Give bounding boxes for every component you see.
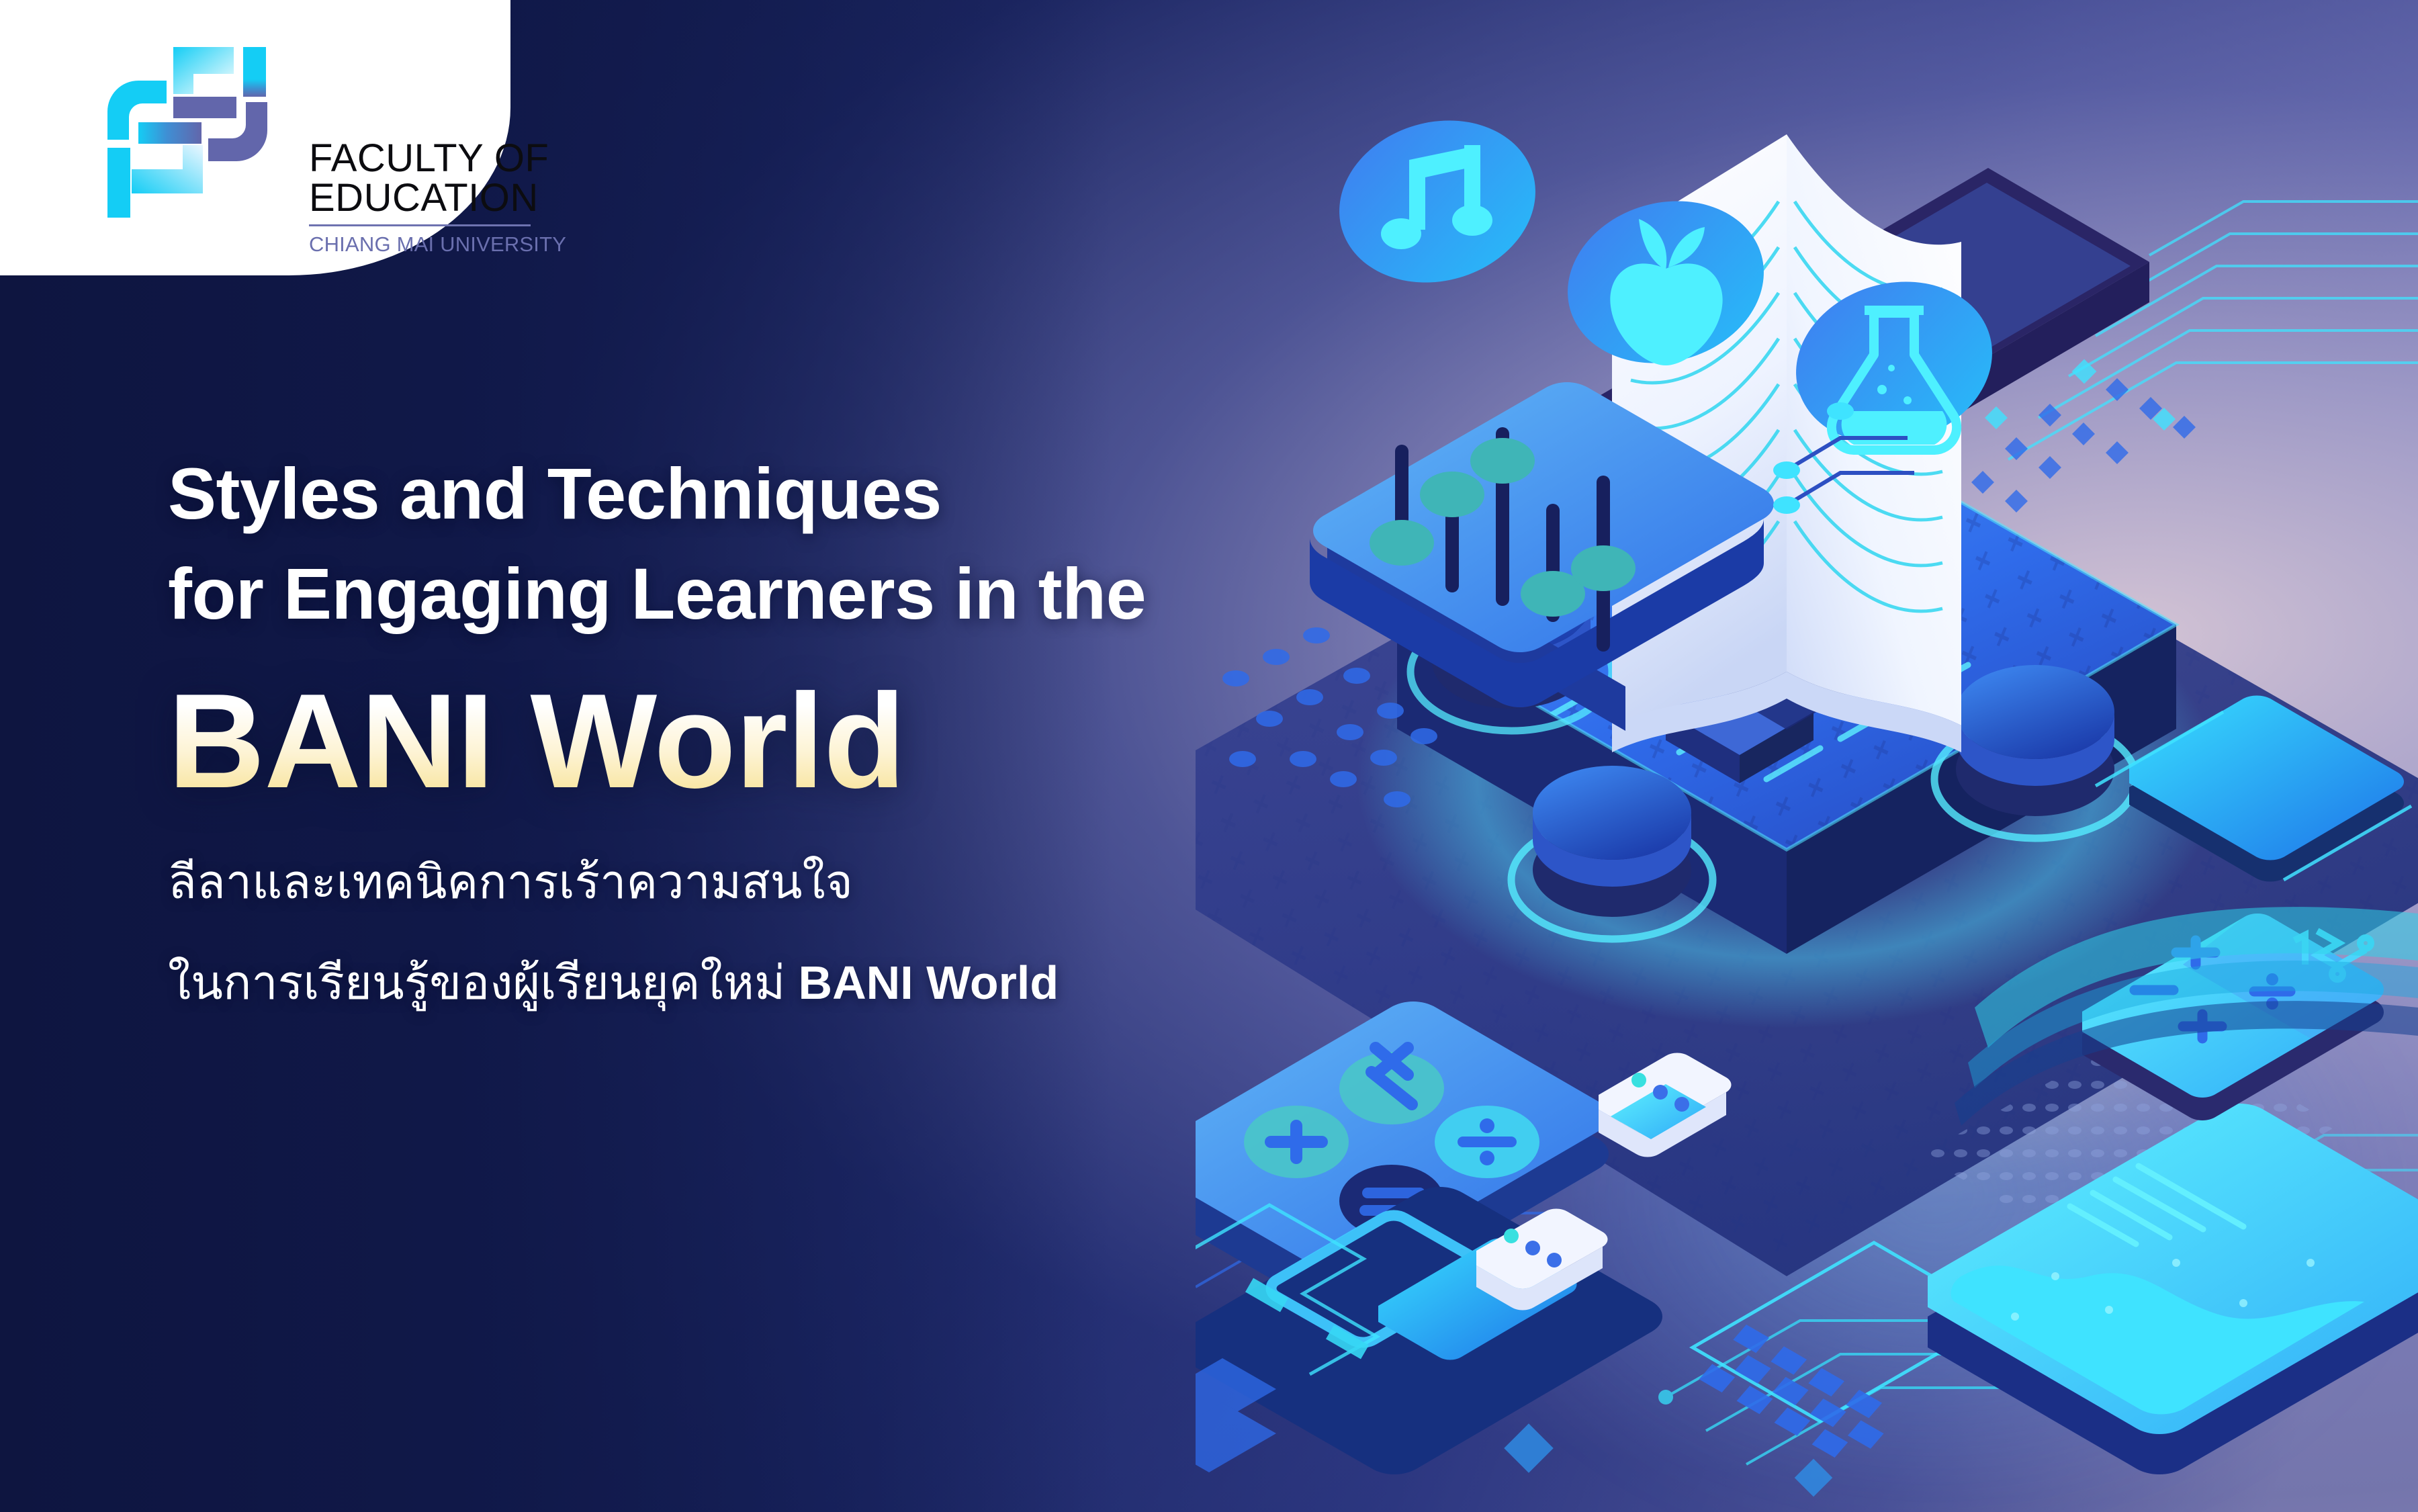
headline-emphasis-bani-world: BANI World: [168, 666, 1390, 817]
subtitle-thai-text: ในการเรียนรู้ของผู้เรียนยุคใหม่: [168, 957, 799, 1009]
subtitle-latin-text: BANI World: [799, 957, 1059, 1009]
headline-line-1: Styles and Techniques: [168, 443, 1390, 543]
logo-inner: FACULTY OF EDUCATION CHIANG MAI UNIVERSI…: [94, 32, 484, 234]
faculty-of-education-mark-icon: [94, 32, 282, 234]
faculty-logo-plate: FACULTY OF EDUCATION CHIANG MAI UNIVERSI…: [0, 0, 510, 275]
logo-line-education: EDUCATION: [309, 178, 531, 218]
event-banner: FACULTY OF EDUCATION CHIANG MAI UNIVERSI…: [0, 0, 2418, 1512]
subtitle-thai-line-2: ในการเรียนรู้ของผู้เรียนยุคใหม่ BANI Wor…: [168, 947, 1390, 1018]
logo-divider: [309, 224, 531, 226]
logo-line-faculty: FACULTY OF: [309, 138, 531, 178]
logo-wordmark: FACULTY OF EDUCATION CHIANG MAI UNIVERSI…: [309, 138, 531, 257]
subtitle-thai-line-1: ลีลาและเทคนิคการเร้าความสนใจ: [168, 846, 1390, 918]
headline-line-2: for Engaging Learners in the: [168, 543, 1390, 643]
logo-line-university: CHIANG MAI UNIVERSITY: [309, 232, 531, 257]
headline-block: Styles and Techniques for Engaging Learn…: [168, 443, 1390, 1019]
